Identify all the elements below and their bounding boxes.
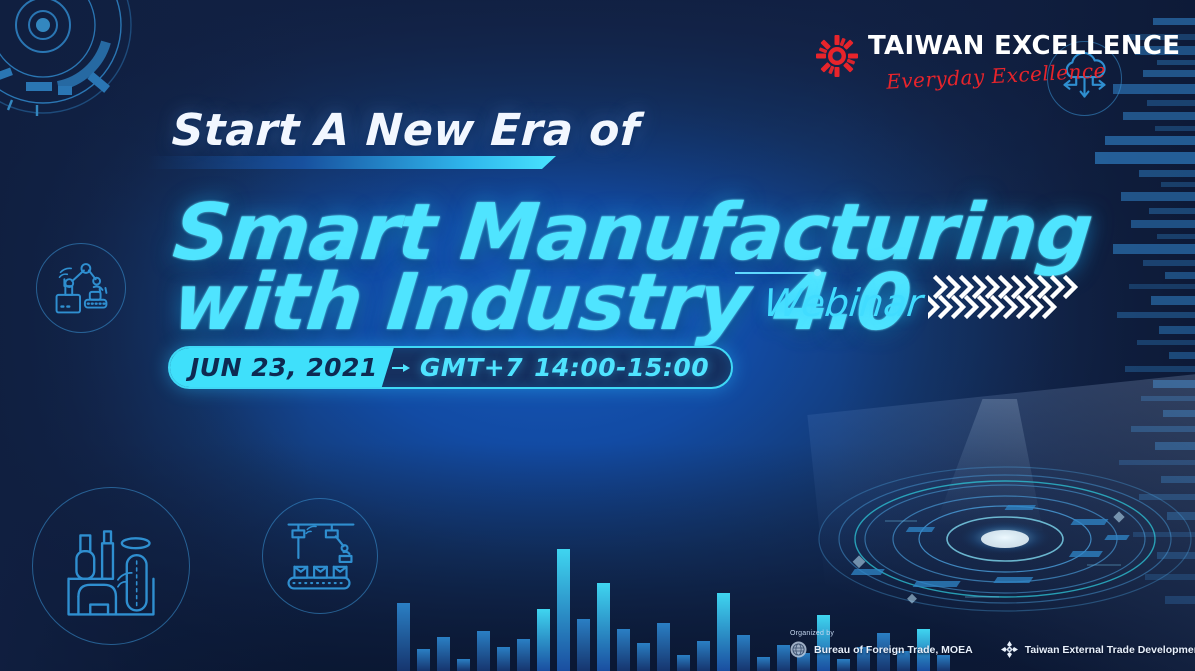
kicker-text: Start A New Era of — [171, 105, 641, 156]
organizer-name: Bureau of Foreign Trade, MOEA — [814, 644, 973, 656]
webinar-badge: Webinar — [762, 281, 925, 325]
organizer-taitra: Taiwan External Trade Development Counci… — [1001, 641, 1195, 658]
footer-organizers: Organized by Bureau of Foreign Trade, MO… — [790, 630, 1195, 658]
taiwan-excellence-logo: TAIWAN EXCELLENCE Everyday Excellence — [816, 33, 1180, 86]
taitra-logo — [1001, 641, 1018, 658]
event-timezone: GMT+7 — [420, 353, 523, 382]
chevron-arrows-icon — [928, 272, 1088, 320]
organizer-name: Taiwan External Trade Development Counci… — [1025, 644, 1195, 656]
event-time-group: GMT+7 14:00-15:00 — [420, 348, 731, 387]
taiwan-excellence-gear-icon — [816, 35, 858, 77]
event-date: JUN 23, 2021 — [170, 348, 394, 387]
organizer-bureau-of-foreign-trade: Bureau of Foreign Trade, MOEA — [790, 641, 973, 658]
connector-stroke — [735, 272, 811, 274]
kicker-underline-bar — [148, 156, 556, 169]
webinar-poster: TAIWAN EXCELLENCE Everyday Excellence St… — [0, 0, 1195, 671]
event-time: 14:00-15:00 — [534, 353, 709, 382]
event-datetime-badge: JUN 23, 2021 GMT+7 14:00-15:00 — [168, 346, 733, 389]
connector-line — [735, 269, 821, 277]
badge-separator — [394, 348, 420, 387]
arrow-right-icon — [392, 363, 416, 372]
bureau-of-foreign-trade-logo — [790, 641, 807, 658]
organized-by-label: Organized by — [790, 630, 1195, 637]
connector-dot — [814, 269, 821, 276]
